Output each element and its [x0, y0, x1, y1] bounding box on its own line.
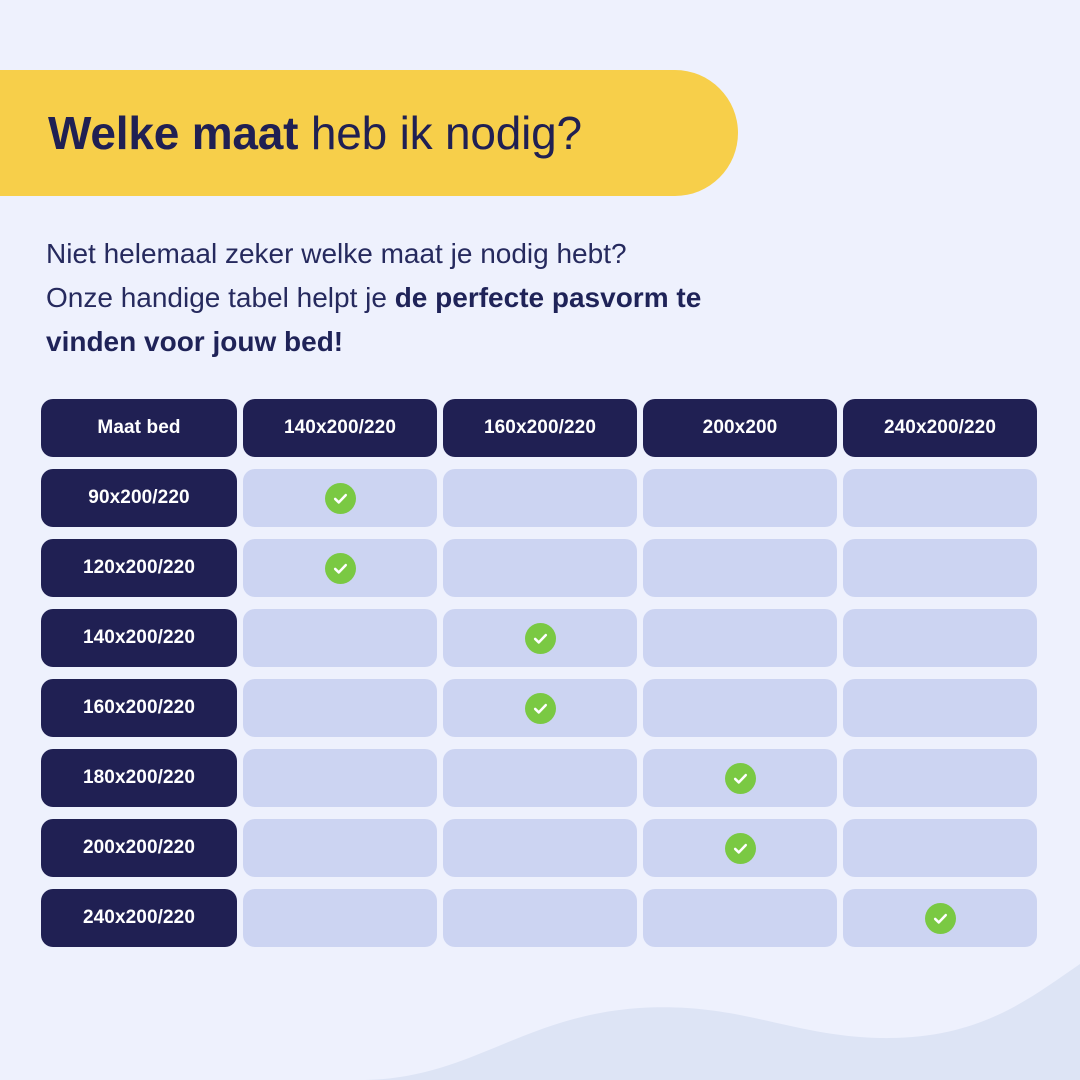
table-row-label-text: 90x200/220 — [88, 487, 189, 509]
table-row: 180x200/220 — [41, 749, 1039, 807]
intro-paragraph: Niet helemaal zeker welke maat je nodig … — [46, 232, 986, 364]
table-row-label-text: 180x200/220 — [83, 767, 195, 789]
table-row-label-0: 90x200/220 — [41, 469, 237, 527]
table-header-label: 240x200/220 — [884, 417, 996, 439]
table-row-label-2: 140x200/220 — [41, 609, 237, 667]
table-cell-r0-c2 — [643, 469, 837, 527]
table-cell-r3-c1 — [443, 679, 637, 737]
table-cell-r1-c3 — [843, 539, 1037, 597]
table-row: 120x200/220 — [41, 539, 1039, 597]
table-cell-r1-c1 — [443, 539, 637, 597]
page-title: Welke maat heb ik nodig? — [48, 110, 582, 156]
page-title-regular: heb ik nodig? — [298, 107, 582, 159]
check-icon — [525, 693, 556, 724]
check-icon — [325, 483, 356, 514]
table-cell-r5-c2 — [643, 819, 837, 877]
table-cell-r3-c0 — [243, 679, 437, 737]
table-cell-r6-c2 — [643, 889, 837, 947]
table-row-label-5: 200x200/220 — [41, 819, 237, 877]
table-cell-r2-c1 — [443, 609, 637, 667]
table-row: 240x200/220 — [41, 889, 1039, 947]
table-row-label-1: 120x200/220 — [41, 539, 237, 597]
table-cell-r5-c1 — [443, 819, 637, 877]
table-row-label-6: 240x200/220 — [41, 889, 237, 947]
check-icon — [525, 623, 556, 654]
table-row-label-text: 140x200/220 — [83, 627, 195, 649]
table-cell-r6-c1 — [443, 889, 637, 947]
title-banner: Welke maat heb ik nodig? — [0, 70, 738, 196]
table-cell-r0-c0 — [243, 469, 437, 527]
size-comparison-table: Maat bed140x200/220160x200/220200x200240… — [41, 399, 1039, 947]
table-row: 140x200/220 — [41, 609, 1039, 667]
table-header-row: Maat bed140x200/220160x200/220200x200240… — [41, 399, 1039, 457]
table-header-cell-1: 140x200/220 — [243, 399, 437, 457]
table-cell-r0-c3 — [843, 469, 1037, 527]
check-icon — [325, 553, 356, 584]
check-icon — [725, 763, 756, 794]
table-cell-r6-c3 — [843, 889, 1037, 947]
table-header-label: 140x200/220 — [284, 417, 396, 439]
table-cell-r4-c2 — [643, 749, 837, 807]
table-row: 200x200/220 — [41, 819, 1039, 877]
table-cell-r5-c0 — [243, 819, 437, 877]
table-cell-r2-c2 — [643, 609, 837, 667]
table-row-label-text: 200x200/220 — [83, 837, 195, 859]
table-row: 160x200/220 — [41, 679, 1039, 737]
table-row-label-text: 120x200/220 — [83, 557, 195, 579]
table-header-label: 200x200 — [703, 417, 778, 439]
table-cell-r0-c1 — [443, 469, 637, 527]
table-row-label-text: 160x200/220 — [83, 697, 195, 719]
table-row-label-text: 240x200/220 — [83, 907, 195, 929]
table-cell-r2-c3 — [843, 609, 1037, 667]
table-cell-r3-c2 — [643, 679, 837, 737]
table-row-label-3: 160x200/220 — [41, 679, 237, 737]
table-cell-r2-c0 — [243, 609, 437, 667]
table-header-cell-2: 160x200/220 — [443, 399, 637, 457]
table-cell-r4-c0 — [243, 749, 437, 807]
table-row-label-4: 180x200/220 — [41, 749, 237, 807]
intro-line-3-bold: vinden voor jouw bed! — [46, 326, 343, 357]
table-header-label: 160x200/220 — [484, 417, 596, 439]
table-cell-r3-c3 — [843, 679, 1037, 737]
table-row: 90x200/220 — [41, 469, 1039, 527]
table-header-cell-0: Maat bed — [41, 399, 237, 457]
intro-line-1: Niet helemaal zeker welke maat je nodig … — [46, 238, 627, 269]
page-title-bold: Welke maat — [48, 107, 298, 159]
intro-line-2-bold: de perfecte pasvorm te — [395, 282, 702, 313]
intro-line-2-regular: Onze handige tabel helpt je — [46, 282, 395, 313]
infographic-canvas: Welke maat heb ik nodig? Niet helemaal z… — [0, 0, 1080, 1080]
check-icon — [725, 833, 756, 864]
table-cell-r4-c1 — [443, 749, 637, 807]
table-cell-r4-c3 — [843, 749, 1037, 807]
table-cell-r1-c2 — [643, 539, 837, 597]
table-header-label: Maat bed — [97, 417, 180, 439]
bottom-wave-decoration — [0, 950, 1080, 1080]
table-header-cell-4: 240x200/220 — [843, 399, 1037, 457]
check-icon — [925, 903, 956, 934]
table-cell-r5-c3 — [843, 819, 1037, 877]
table-cell-r1-c0 — [243, 539, 437, 597]
table-cell-r6-c0 — [243, 889, 437, 947]
table-header-cell-3: 200x200 — [643, 399, 837, 457]
